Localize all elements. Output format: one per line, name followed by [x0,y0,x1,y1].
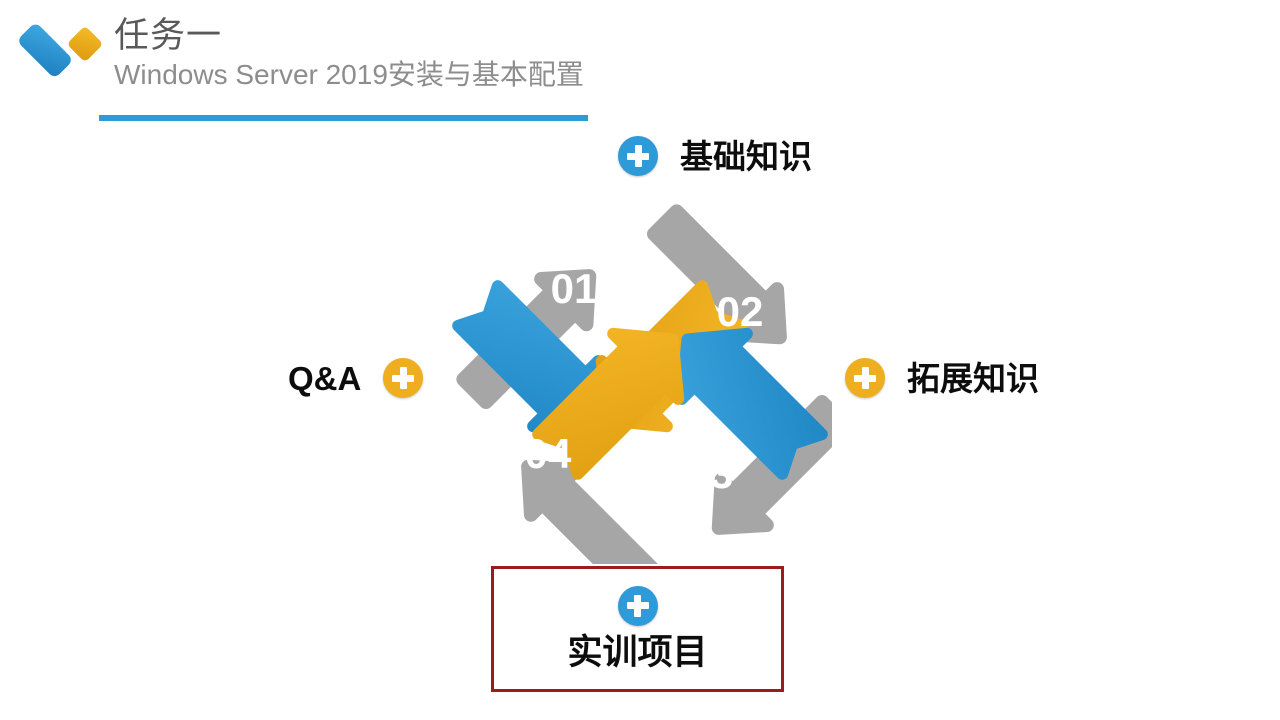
cycle-step-02-number: 02 [717,288,764,335]
title-underline-rule [99,115,588,121]
cycle-step-04-number: 04 [525,430,572,477]
slide-header: 任务一 Windows Server 2019安装与基本配置 [0,0,1280,130]
plus-circle-icon[interactable] [618,136,658,176]
brand-diamond-logo [8,12,108,90]
label-extended-knowledge[interactable]: 拓展知识 [845,358,1039,398]
page-title: 任务一 [114,14,584,58]
label-training-project-text: 实训项目 [567,634,707,673]
cycle-step-01-number: 01 [551,265,598,312]
header-text-block: 任务一 Windows Server 2019安装与基本配置 [114,14,584,94]
plus-circle-icon[interactable] [383,358,423,398]
plus-circle-icon[interactable] [845,358,885,398]
label-extended-knowledge-text: 拓展知识 [907,362,1039,395]
page-subtitle: Windows Server 2019安装与基本配置 [114,56,584,94]
plus-circle-icon[interactable] [618,586,658,626]
label-basic-knowledge-text: 基础知识 [680,140,812,173]
cycle-arrow-diagram: 01 02 03 04 [448,196,832,564]
label-training-project[interactable]: 实训项目 [491,566,784,692]
cycle-step-03-number: 03 [687,450,734,497]
label-basic-knowledge[interactable]: 基础知识 [618,136,812,176]
label-qa-text: Q&A [288,362,361,395]
label-qa[interactable]: Q&A [288,358,423,398]
